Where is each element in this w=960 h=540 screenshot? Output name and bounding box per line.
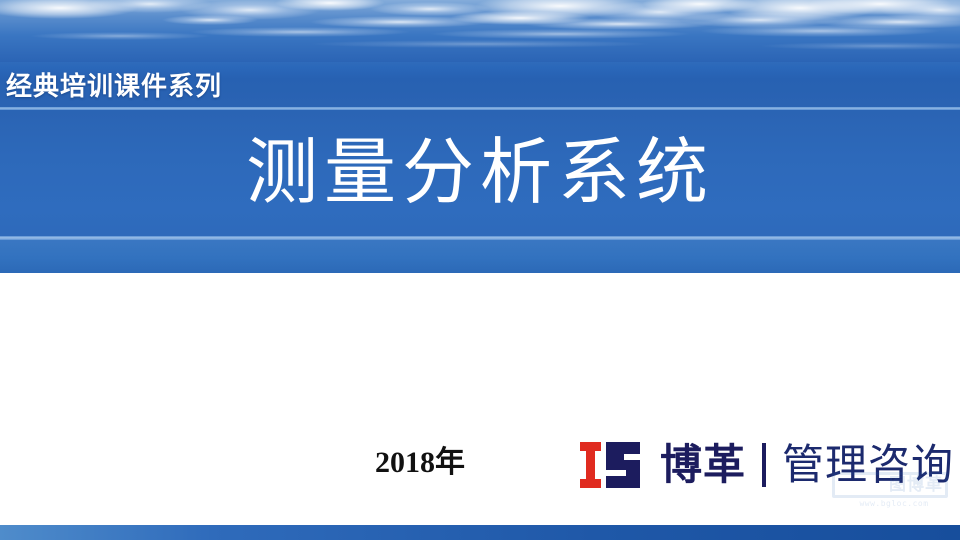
- series-kicker-text: 经典培训课件系列: [6, 70, 222, 104]
- bg-monogram-icon: [578, 440, 646, 490]
- logo-wordmark: 博革: [660, 440, 746, 490]
- slide-canvas: 经典培训课件系列 测量分析系统 2018年 博革 管理咨询 图博革 www.bg…: [0, 0, 960, 540]
- logo-subtitle: 管理咨询: [782, 440, 954, 490]
- page-title: 测量分析系统: [0, 128, 960, 216]
- sky-photo-band: [0, 0, 960, 64]
- banner-top-rule: [0, 107, 960, 110]
- logo-divider: [762, 443, 766, 487]
- year-text: 2018年: [300, 445, 540, 481]
- bottom-accent-bar: [0, 525, 960, 540]
- banner-foot-strip: [0, 240, 960, 273]
- cloud-illustration: [0, 0, 960, 64]
- company-logo: 博革 管理咨询: [578, 436, 954, 494]
